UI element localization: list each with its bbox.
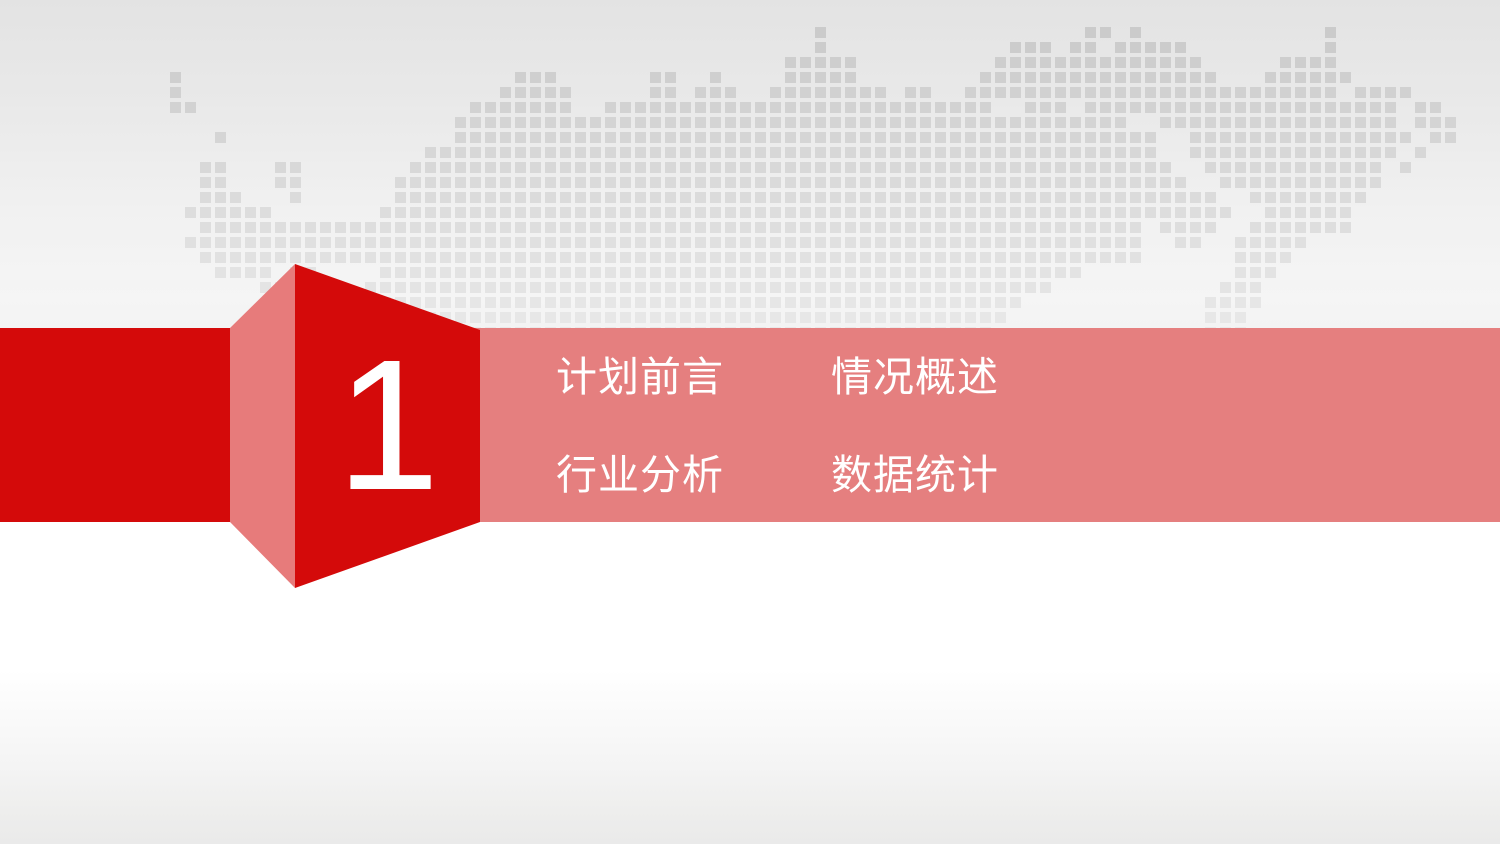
agenda-item-industry-analysis[interactable]: 行业分析 [556, 450, 831, 500]
agenda-item-data-statistics[interactable]: 数据统计 [831, 450, 1106, 500]
agenda-item-plan-preface[interactable]: 计划前言 [556, 352, 831, 402]
section-number: 1 [295, 330, 481, 522]
agenda-item-situation-overview[interactable]: 情况概述 [831, 352, 1106, 402]
presentation-slide: 1 计划前言 情况概述 行业分析 数据统计 [0, 0, 1500, 844]
agenda-list: 计划前言 情况概述 行业分析 数据统计 [556, 352, 1176, 548]
